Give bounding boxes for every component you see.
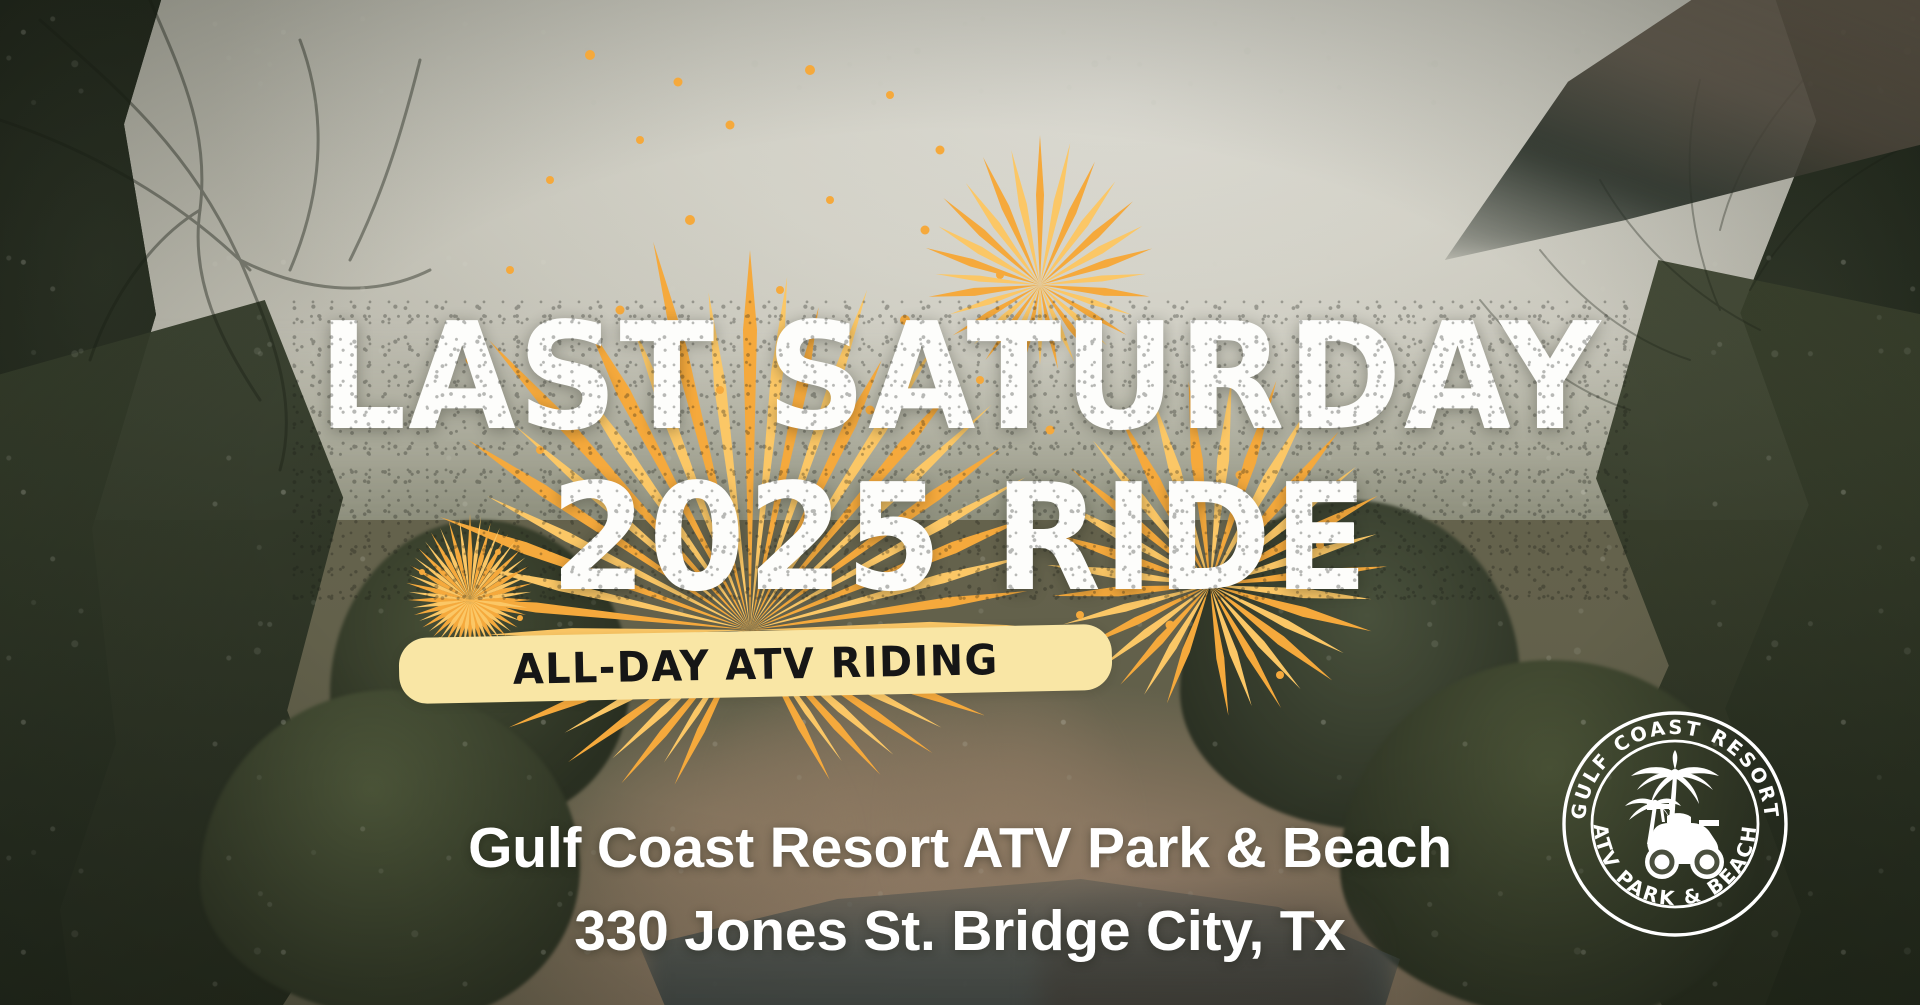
- headline-line-1-text: LAST SATURDAY: [318, 291, 1602, 463]
- headline-line-2: 2025 RIDE: [58, 472, 1863, 605]
- headline-line-1: LAST SATURDAY: [58, 311, 1863, 444]
- banner-label: ALL-DAY ATV RIDING: [512, 635, 999, 694]
- headline-line-2-text: 2025 RIDE: [550, 452, 1370, 624]
- gulf-coast-resort-logo: GULF COAST RESORT ATV PARK & BEACH: [1561, 710, 1789, 938]
- venue-name-text: Gulf Coast Resort ATV Park & Beach: [468, 816, 1452, 880]
- venue-address-text: 330 Jones St. Bridge City, Tx: [574, 899, 1346, 963]
- event-poster: LAST SATURDAY 2025 RIDE ALL-DAY ATV RIDI…: [0, 0, 1920, 1005]
